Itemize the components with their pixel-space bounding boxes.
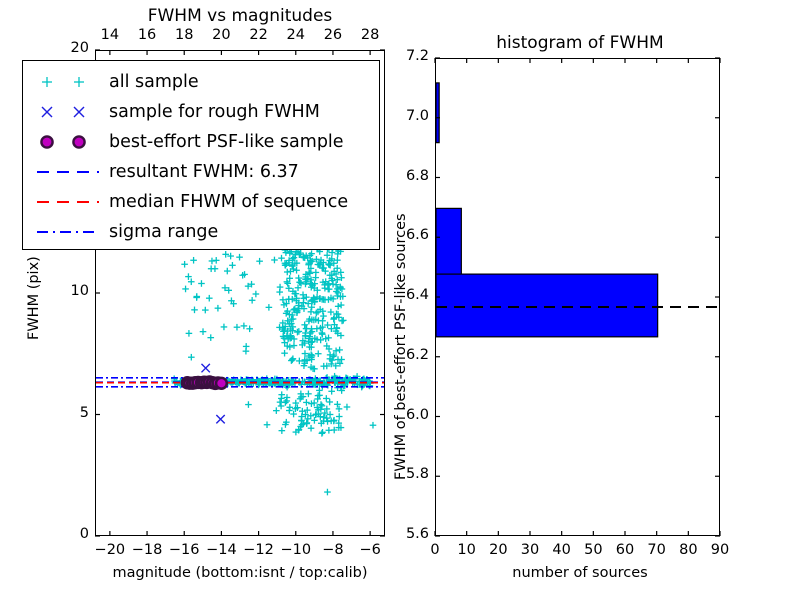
legend-item-4: median FHWM of sequence: [23, 187, 379, 217]
left-top-tick-16: 16: [127, 27, 167, 43]
right-y-tick-7.0: 7.0: [383, 108, 429, 124]
histogram-plot-area: [436, 59, 719, 535]
histogram-bar-2: [436, 274, 658, 337]
left-top-tick-18: 18: [164, 27, 204, 43]
left-y-tick-20: 20: [45, 40, 89, 56]
right-y-tick-5.6: 5.6: [383, 526, 429, 542]
left-top-tick-26: 26: [313, 27, 353, 43]
histogram-axes: [435, 58, 720, 536]
left-xlabel: magnitude (bottom:isnt / top:calib): [75, 565, 405, 581]
legend-item-0: all sample: [23, 67, 379, 97]
left-y-tick-5: 5: [45, 405, 89, 421]
left-y-tick-0: 0: [45, 526, 89, 542]
right-x-tick-90: 90: [700, 542, 740, 558]
legend-label: sample for rough FWHM: [109, 102, 320, 122]
legend: all samplesample for rough FWHMbest-effo…: [22, 60, 380, 250]
dashdot-line: [29, 219, 107, 245]
legend-label: all sample: [109, 72, 199, 92]
legend-item-2: best-effort PSF-like sample: [23, 127, 379, 157]
legend-item-5: sigma range: [23, 217, 379, 247]
cross-marker: [29, 99, 107, 125]
histogram-bar-1: [436, 208, 461, 274]
circle-marker: [29, 129, 107, 155]
plus-marker: [29, 69, 107, 95]
right-y-tick-7.2: 7.2: [383, 48, 429, 64]
legend-item-1: sample for rough FWHM: [23, 97, 379, 127]
legend-label: resultant FWHM: 6.37: [109, 162, 299, 182]
left-y-tick-10: 10: [45, 283, 89, 299]
right-panel-title: histogram of FWHM: [435, 33, 725, 53]
dashed-line: [29, 159, 107, 185]
left-bottom-tick-neg6: −6: [348, 542, 392, 558]
dashed-line: [29, 189, 107, 215]
left-panel-title: FWHM vs magnitudes: [95, 6, 385, 26]
left-top-tick-20: 20: [201, 27, 241, 43]
left-top-tick-24: 24: [276, 27, 316, 43]
histogram-bars-layer: [436, 59, 719, 535]
legend-label: best-effort PSF-like sample: [109, 132, 344, 152]
legend-item-3: resultant FWHM: 6.37: [23, 157, 379, 187]
left-top-tick-14: 14: [90, 27, 130, 43]
figure-canvas: FWHM vs magnitudes 1416182022242628 0510…: [0, 0, 800, 600]
left-ylabel: FWHM (pix): [26, 256, 42, 340]
left-top-tick-28: 28: [350, 27, 390, 43]
right-ylabel: FWHM of best-effort PSF-like sources: [393, 213, 409, 480]
rough-fwhm-points: [201, 364, 224, 423]
legend-label: sigma range: [109, 222, 218, 242]
psf-like-points: [182, 377, 227, 389]
right-y-tick-6.8: 6.8: [383, 168, 429, 184]
legend-label: median FHWM of sequence: [109, 192, 348, 212]
right-xlabel: number of sources: [455, 565, 705, 581]
left-top-tick-22: 22: [239, 27, 279, 43]
all-sample-points: [171, 230, 376, 495]
histogram-bar-0: [436, 83, 439, 143]
